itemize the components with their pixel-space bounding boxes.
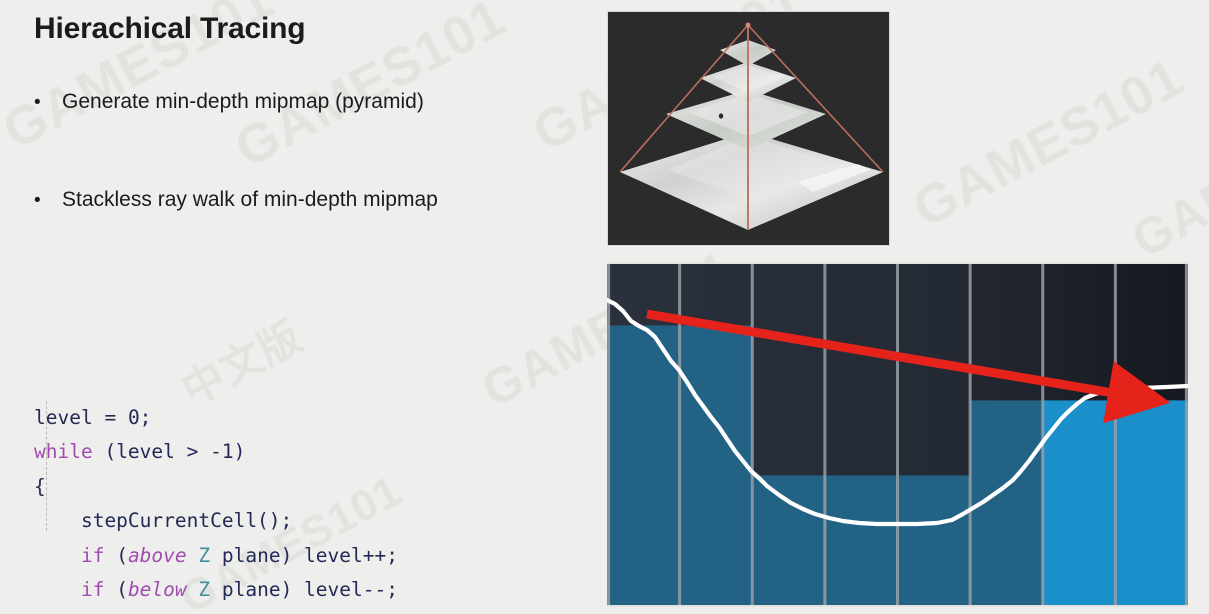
code-line-0: level = 0; (34, 401, 398, 436)
mipmap-cell-2 (752, 475, 825, 605)
code-line-2: { (34, 470, 398, 505)
code-token: if (81, 544, 104, 567)
code-token: below (128, 578, 187, 601)
code-token: level (116, 440, 175, 463)
code-token: plane) level++; (210, 544, 398, 567)
watermark-7: GAMES101 (1122, 89, 1209, 269)
mipmap-cell-3 (825, 475, 898, 605)
code-token: > -1) (175, 440, 245, 463)
pyramid-apex (746, 23, 751, 28)
code-line-1: while (level > -1) (34, 435, 398, 470)
code-line-6: } (34, 608, 398, 614)
code-line-5: if (below Z plane) level--; (34, 573, 398, 608)
page-title: Hierachical Tracing (34, 12, 305, 46)
code-token (187, 544, 199, 567)
code-token (187, 578, 199, 601)
code-token (34, 544, 81, 567)
min-depth-mipmap-illustration (607, 264, 1188, 605)
code-token: stepCurrentCell(); (34, 509, 292, 532)
mipmap-pyramid-illustration (608, 12, 889, 245)
code-token: plane) level--; (210, 578, 398, 601)
mipmap-cell-7 (1115, 400, 1188, 605)
code-token: ( (104, 544, 127, 567)
bullet-text-1: Stackless ray walk of min-depth mipmap (62, 187, 438, 213)
mipmap-cell-0 (607, 325, 680, 605)
bullet-item-0: • Generate min-depth mipmap (pyramid) (34, 89, 424, 116)
code-token (34, 578, 81, 601)
code-block: level = 0;while (level > -1){ stepCurren… (34, 297, 398, 614)
min-depth-mipmap-figure (607, 262, 1188, 607)
pyramid-speck (719, 113, 723, 118)
bullet-text-0: Generate min-depth mipmap (pyramid) (62, 89, 424, 115)
slide-root: GAMES101GAMES101GAMES101GAMES101中文版GAMES… (0, 0, 1209, 614)
code-token: level (34, 406, 93, 429)
code-token: ( (93, 440, 116, 463)
code-indent-guide (46, 401, 48, 531)
mipmap-cell-4 (898, 475, 971, 605)
code-token: while (34, 440, 93, 463)
bullet-marker-icon: • (34, 90, 62, 116)
mipmap-pyramid-figure (607, 11, 890, 246)
code-token: if (81, 578, 104, 601)
code-token: Z (198, 544, 210, 567)
code-line-3: stepCurrentCell(); (34, 504, 398, 539)
code-token: 0; (128, 406, 151, 429)
left-content-column: Hierachical Tracing • Generate min-depth… (0, 0, 600, 614)
bullet-item-1: • Stackless ray walk of min-depth mipmap (34, 187, 438, 214)
code-line-4: if (above Z plane) level++; (34, 539, 398, 574)
code-token: Z (198, 578, 210, 601)
code-token: above (128, 544, 187, 567)
mipmap-cell-1 (680, 325, 753, 605)
code-token: = (93, 406, 128, 429)
code-token: { (34, 475, 46, 498)
watermark-3: GAMES101 (903, 46, 1194, 240)
code-token: ( (104, 578, 127, 601)
bullet-marker-icon: • (34, 188, 62, 214)
